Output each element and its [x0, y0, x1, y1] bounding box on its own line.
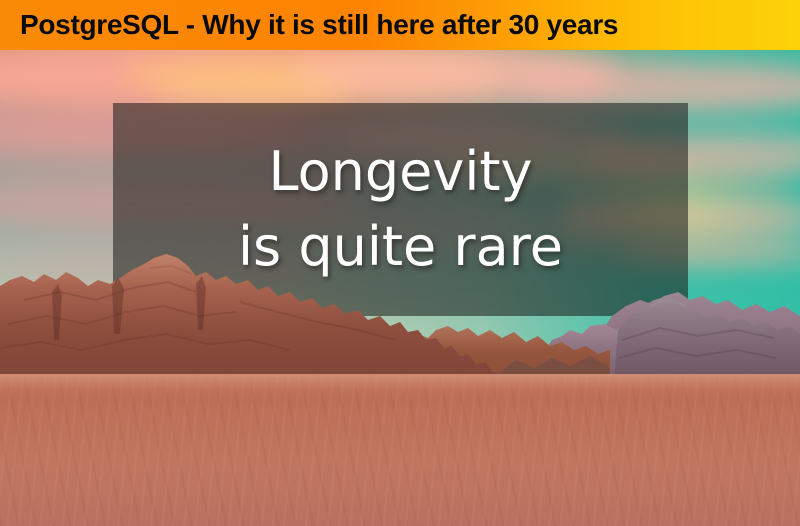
slide-title: Longevity is quite rare — [113, 103, 688, 316]
header-banner: PostgreSQL - Why it is still here after … — [0, 0, 800, 50]
banner-title-text: PostgreSQL - Why it is still here after … — [20, 11, 618, 39]
slide-canvas: Longevity is quite rare — [0, 0, 800, 526]
floor-horizon-haze — [0, 374, 800, 400]
title-line-1: Longevity — [269, 135, 533, 210]
title-line-2: is quite rare — [238, 210, 563, 285]
